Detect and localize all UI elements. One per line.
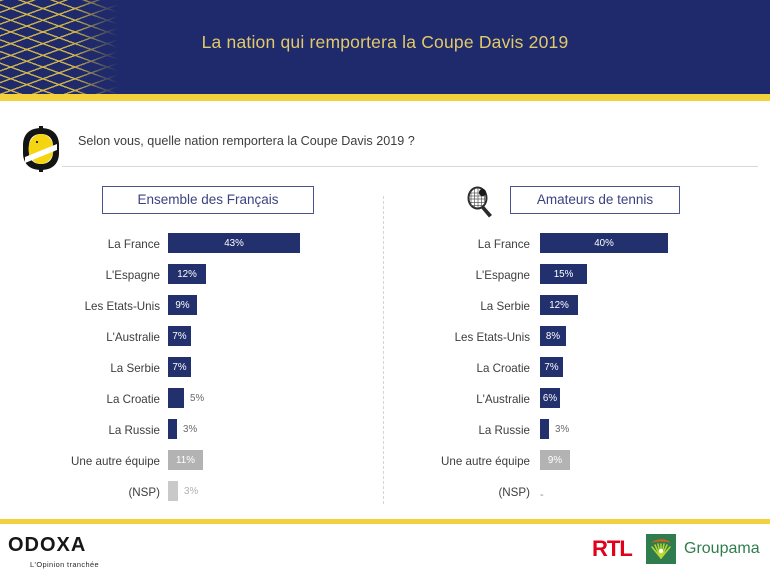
bar-row: La Croatie 5%	[40, 387, 370, 418]
bar-value: 5%	[190, 393, 204, 404]
odoxa-o-mark-icon	[16, 124, 66, 174]
bar-label: (NSP)	[400, 486, 530, 499]
bar-value: 3%	[183, 424, 197, 435]
bar-shape: 5%	[168, 388, 184, 408]
chart-panel-amateurs: Amateurs de tennis La France 40% L'Espag…	[400, 186, 740, 511]
bar-value: 11%	[168, 450, 203, 470]
bar-value: 43%	[168, 233, 300, 253]
bar-value: 9%	[168, 295, 197, 315]
slide-root: La nation qui remportera la Coupe Davis …	[0, 0, 770, 574]
bar-value: 12%	[168, 264, 206, 284]
bar-row: Les Etats-Unis 9%	[40, 294, 370, 325]
bar-row: La France 40%	[400, 232, 740, 263]
bar-row: Les Etats-Unis 8%	[400, 325, 740, 356]
bar-row: La Serbie 7%	[40, 356, 370, 387]
bar-value: 40%	[540, 233, 668, 253]
bar-row: L'Australie 7%	[40, 325, 370, 356]
bar-row: La Serbie 12%	[400, 294, 740, 325]
panel-title-ensemble: Ensemble des Français	[102, 186, 314, 214]
chart-panel-ensemble: Ensemble des Français La France 43% L'Es…	[40, 186, 370, 511]
bar-row: (NSP) -	[400, 480, 740, 511]
bar-label: La Croatie	[400, 362, 530, 375]
header-divider-rule	[62, 166, 758, 167]
odoxa-tagline: L'Opinion tranchée	[30, 560, 138, 569]
bar-shape: 3%	[168, 481, 178, 501]
bar-label: La Russie	[400, 424, 530, 437]
groupama-leaf-icon	[646, 534, 676, 564]
bar-label: La Serbie	[400, 300, 530, 313]
bar-row: Une autre équipe 9%	[400, 449, 740, 480]
page-title: La nation qui remportera la Coupe Davis …	[0, 32, 770, 53]
bar-label: La Russie	[40, 424, 160, 437]
bar-label: Les Etats-Unis	[400, 331, 530, 344]
bar-row: La Russie 3%	[40, 418, 370, 449]
bar-row: La Russie 3%	[400, 418, 740, 449]
bar-label: L'Australie	[40, 331, 160, 344]
slide-header: La nation qui remportera la Coupe Davis …	[0, 0, 770, 94]
bar-value: 7%	[168, 326, 191, 346]
bar-row: L'Espagne 12%	[40, 263, 370, 294]
bar-value: 7%	[168, 357, 191, 377]
odoxa-wordmark: ODOXA	[8, 534, 138, 557]
bar-row: L'Espagne 15%	[400, 263, 740, 294]
panel-divider	[383, 196, 384, 504]
panel-title-amateurs: Amateurs de tennis	[510, 186, 680, 214]
bar-shape: 3%	[168, 419, 177, 439]
tennis-racket-icon	[462, 185, 498, 221]
bar-row: L'Australie 6%	[400, 387, 740, 418]
footer-gold-band	[0, 519, 770, 524]
bar-label: La France	[400, 238, 530, 251]
bar-value: 12%	[540, 295, 578, 315]
bar-label: L'Espagne	[400, 269, 530, 282]
bar-value: 9%	[540, 450, 570, 470]
odoxa-logo: ODOXA L'Opinion tranchée	[8, 534, 138, 568]
bar-label: Les Etats-Unis	[40, 300, 160, 313]
bar-label: Une autre équipe	[40, 455, 160, 468]
bar-label: La Serbie	[40, 362, 160, 375]
bar-value: -	[540, 489, 544, 501]
bar-shape: 3%	[540, 419, 549, 439]
bar-label: Une autre équipe	[400, 455, 530, 468]
bar-label: L'Espagne	[40, 269, 160, 282]
odoxa-wordmark-text: ODOXA	[8, 534, 86, 557]
bar-rows-ensemble: La France 43% L'Espagne 12% Les Etats-Un…	[40, 232, 370, 511]
bar-value: 6%	[540, 388, 560, 408]
panel-header-left: Ensemble des Français	[40, 186, 370, 220]
bar-row: La Croatie 7%	[400, 356, 740, 387]
bar-value: 8%	[540, 326, 566, 346]
bar-row: Une autre équipe 11%	[40, 449, 370, 480]
bar-value: 15%	[540, 264, 587, 284]
bar-value: 3%	[555, 424, 569, 435]
survey-question: Selon vous, quelle nation remportera la …	[78, 134, 415, 148]
bar-label: La France	[40, 238, 160, 251]
bar-label: L'Australie	[400, 393, 530, 406]
groupama-logo: Groupama	[646, 534, 760, 564]
bar-label: (NSP)	[40, 486, 160, 499]
bar-value: 7%	[540, 357, 563, 377]
bar-value: 3%	[184, 486, 198, 497]
groupama-wordmark: Groupama	[684, 540, 760, 558]
header-gold-band	[0, 94, 770, 101]
rtl-logo: RTL	[592, 536, 632, 562]
bar-row: La France 43%	[40, 232, 370, 263]
bar-rows-amateurs: La France 40% L'Espagne 15% La Serbie 12…	[400, 232, 740, 511]
bar-row: (NSP) 3%	[40, 480, 370, 511]
bar-label: La Croatie	[40, 393, 160, 406]
panel-header-right: Amateurs de tennis	[400, 186, 740, 220]
